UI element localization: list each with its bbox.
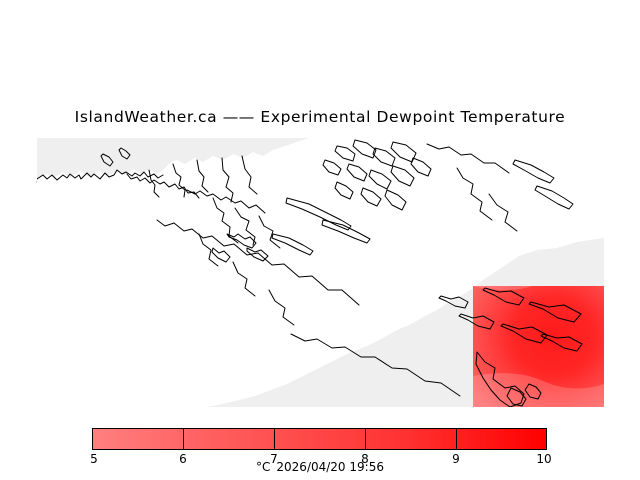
dewpoint-data-layer [473, 268, 604, 407]
valid-timestamp: 2026/04/20 19:56 [276, 460, 384, 474]
colorbar[interactable]: 5 6 7 8 9 10 [92, 428, 547, 450]
colorbar-ticks [92, 428, 547, 450]
colorbar-tick-mark [456, 428, 457, 450]
map-canvas [37, 138, 604, 407]
colorbar-tick-mark [365, 428, 366, 450]
colorbar-tick-mark [183, 428, 184, 450]
map-plot-area[interactable] [37, 138, 604, 407]
unit-label: °C [256, 460, 270, 474]
weather-map-page: IslandWeather.ca —— Experimental Dewpoin… [0, 0, 640, 480]
page-title: IslandWeather.ca —— Experimental Dewpoin… [0, 108, 640, 126]
colorbar-caption: °C2026/04/20 19:56 [0, 460, 640, 474]
colorbar-tick-mark [274, 428, 275, 450]
